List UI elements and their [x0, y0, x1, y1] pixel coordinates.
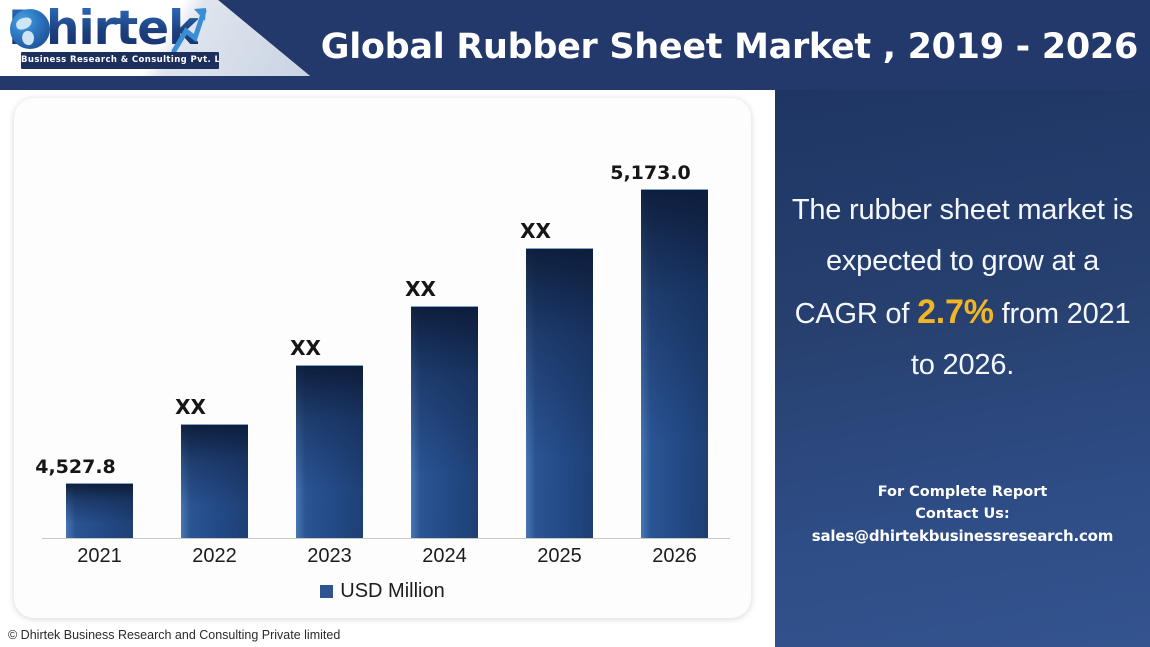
legend-swatch-icon — [320, 585, 333, 598]
page-body: 4,527.8 XX XX XX — [0, 90, 1150, 647]
company-logo[interactable]: Dhirtek Business Research & Consulting P… — [8, 3, 223, 73]
bar-label-2021: 4,527.8 — [30, 456, 121, 478]
page-header: Dhirtek Business Research & Consulting P… — [0, 0, 1150, 90]
copyright-footer: © Dhirtek Business Research and Consulti… — [8, 628, 648, 642]
bar-2025[interactable] — [526, 248, 593, 539]
x-axis-line — [42, 538, 730, 539]
bar-slot-2025: XX — [502, 116, 617, 539]
bar-label-2023: XX — [282, 336, 329, 360]
contact-block: For Complete Report Contact Us: sales@dh… — [783, 481, 1142, 547]
contact-line-2: Contact Us: — [783, 503, 1142, 525]
x-label-2025: 2025 — [502, 545, 617, 568]
x-label-2021: 2021 — [42, 545, 157, 568]
bar-label-2025: XX — [512, 219, 559, 243]
bar-slot-2026: 5,173.0 — [617, 116, 732, 539]
chart-legend: USD Million — [14, 580, 751, 603]
page-title: Global Rubber Sheet Market , 2019 - 2026 — [310, 28, 1138, 66]
bar-slot-2023: XX — [272, 116, 387, 539]
infographic-page: Dhirtek Business Research & Consulting P… — [0, 0, 1150, 647]
x-axis-labels: 2021 2022 2023 2024 2025 2026 — [42, 545, 732, 577]
bar-2021[interactable] — [66, 483, 133, 539]
bar-chart: 4,527.8 XX XX XX — [14, 98, 751, 618]
cagr-value: 2.7% — [917, 293, 994, 331]
contact-line-1: For Complete Report — [783, 481, 1142, 503]
globe-icon — [10, 9, 50, 49]
highlight-panel: The rubber sheet market is expected to g… — [775, 90, 1150, 647]
logo-tagline: Business Research & Consulting Pvt. Ltd. — [21, 52, 219, 69]
bar-2026[interactable] — [641, 189, 708, 539]
bar-2023[interactable] — [296, 365, 363, 539]
x-label-2026: 2026 — [617, 545, 732, 568]
bar-slot-2021: 4,527.8 — [42, 116, 157, 539]
growth-arrow-icon — [168, 5, 208, 53]
cagr-statement: The rubber sheet market is expected to g… — [791, 185, 1134, 391]
bar-label-2026: 5,173.0 — [605, 162, 696, 184]
bar-slot-2022: XX — [157, 116, 272, 539]
bar-label-2022: XX — [167, 395, 214, 419]
bar-slot-2024: XX — [387, 116, 502, 539]
x-label-2022: 2022 — [157, 545, 272, 568]
contact-email[interactable]: sales@dhirtekbusinessresearch.com — [783, 525, 1142, 547]
bar-2024[interactable] — [411, 306, 478, 539]
x-label-2023: 2023 — [272, 545, 387, 568]
header-bottom-strip — [0, 76, 1150, 90]
bar-label-2024: XX — [397, 277, 444, 301]
chart-card: 4,527.8 XX XX XX — [14, 98, 751, 618]
x-label-2024: 2024 — [387, 545, 502, 568]
chart-plot-area: 4,527.8 XX XX XX — [42, 116, 732, 539]
bar-2022[interactable] — [181, 424, 248, 539]
legend-label-usd-million: USD Million — [340, 580, 444, 602]
